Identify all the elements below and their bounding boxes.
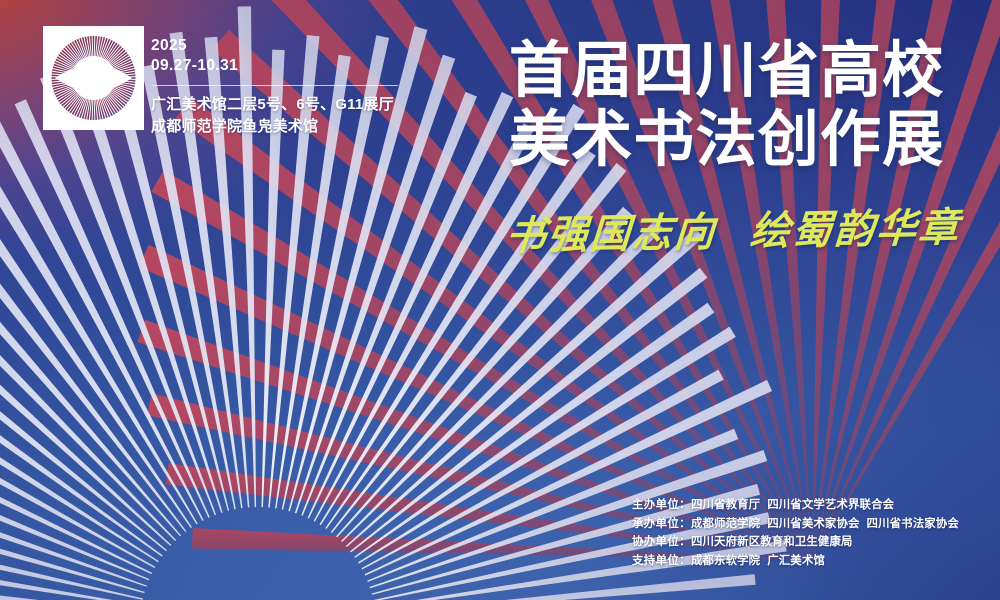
organizer-credits: 主办单位：四川省教育厅四川省文学艺术界联合会承办单位：成都师范学院四川省美术家协… bbox=[632, 496, 982, 570]
credit-org: 成都师范学院 bbox=[691, 518, 760, 530]
event-date-range: 09.27-10.31 bbox=[151, 56, 451, 76]
tagline-part-2: 绘蜀韵华章 bbox=[748, 204, 962, 255]
event-year: 2025 bbox=[151, 36, 451, 56]
credit-org: 广汇美术馆 bbox=[767, 555, 825, 567]
credit-row: 主办单位：四川省教育厅四川省文学艺术界联合会 bbox=[632, 496, 982, 515]
radial-burst-vesica-logo-icon bbox=[43, 26, 144, 130]
credit-label: 协办单位： bbox=[632, 536, 691, 548]
event-info-block: 2025 09.27-10.31 广汇美术馆二层5号、6号、G11展厅 成都师范… bbox=[151, 36, 451, 137]
credit-org: 四川省美术家协会 bbox=[767, 518, 859, 530]
credit-row: 支持单位：成都东软学院广汇美术馆 bbox=[632, 552, 982, 571]
title-line-1: 首届四川省高校 bbox=[509, 36, 979, 105]
credit-org: 成都东软学院 bbox=[691, 555, 760, 567]
exhibition-poster: 2025 09.27-10.31 广汇美术馆二层5号、6号、G11展厅 成都师范… bbox=[0, 0, 1000, 600]
credit-org: 四川省教育厅 bbox=[691, 499, 760, 511]
page-title: 首届四川省高校 美术书法创作展 bbox=[509, 36, 979, 174]
credit-org: 四川省文学艺术界联合会 bbox=[767, 499, 894, 511]
credit-org: 四川省书法家协会 bbox=[867, 518, 959, 530]
tagline-gap bbox=[715, 245, 749, 246]
gallery-logo bbox=[43, 26, 144, 130]
title-line-2: 美术书法创作展 bbox=[509, 105, 979, 174]
credit-label: 承办单位： bbox=[632, 518, 691, 530]
credit-row: 协办单位：四川天府新区教育和卫生健康局 bbox=[632, 533, 982, 552]
venue-line-2: 成都师范学院鱼凫美术馆 bbox=[151, 116, 451, 138]
tagline-part-1: 书强国志向 bbox=[504, 209, 718, 260]
credit-row: 承办单位：成都师范学院四川省美术家协会四川省书法家协会 bbox=[632, 515, 982, 534]
info-divider bbox=[152, 85, 398, 86]
credit-label: 主办单位： bbox=[632, 499, 691, 511]
credit-org: 四川天府新区教育和卫生健康局 bbox=[691, 536, 853, 548]
calligraphy-tagline: 书强国志向绘蜀韵华章 bbox=[504, 201, 986, 262]
venue-line-1: 广汇美术馆二层5号、6号、G11展厅 bbox=[151, 94, 451, 116]
credit-label: 支持单位： bbox=[632, 555, 691, 567]
